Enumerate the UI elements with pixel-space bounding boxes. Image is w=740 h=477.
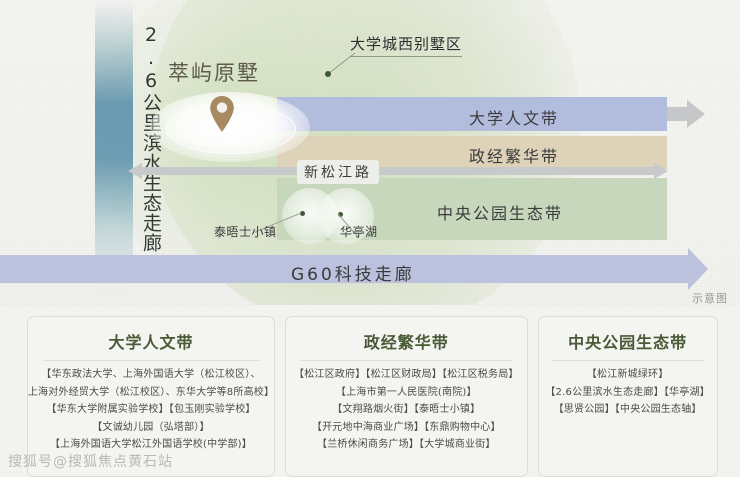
corridor-vertical-label: 2.6公里滨水生态走廊 xyxy=(133,24,161,284)
card-line: 【开元地中海商业广场】【东鼎购物中心】 xyxy=(312,421,501,435)
card-lines: 【松江新城绿环】 【2.6公里滨水生态走廊】【华亭湖】 【思贤公园】【中央公园生… xyxy=(547,368,709,417)
card-line: 【兰桥休闲商务广场】【大学城商业街】 xyxy=(317,438,496,452)
card-line: 【上海外国语大学松江外国语学校(中学部)】 xyxy=(50,438,252,452)
belt-university-humanities: 大学人文带 xyxy=(277,97,667,131)
poi-label-huating: 华亭湖 xyxy=(340,223,378,240)
card-line: 【文翔路烟火街】【泰晤士小镇】 xyxy=(332,403,480,417)
card-title: 政经繁华带 xyxy=(364,329,449,353)
card-title: 中央公园生态带 xyxy=(568,329,687,353)
belt-university-arrow-icon xyxy=(667,94,707,134)
road-arrow-icon xyxy=(128,163,668,179)
card-line: 【松江区政府】【松江区财政局】【松江区税务局】 xyxy=(294,368,519,382)
card-line: 【松江新城绿环】 xyxy=(587,368,669,382)
g60-arrow-icon xyxy=(668,248,710,290)
card-lines: 【松江区政府】【松江区财政局】【松江区税务局】 【上海市第一人民医院(南院)】 … xyxy=(294,368,519,452)
belt-university-humanities-label: 大学人文带 xyxy=(469,105,559,129)
card-central-park-ecology: 中央公园生态带 【松江新城绿环】 【2.6公里滨水生态走廊】【华亭湖】 【思贤公… xyxy=(538,316,718,477)
card-lines: 【华东政法大学、上海外国语大学（松江校区）、 上海对外经贸大学（松江校区）、东华… xyxy=(36,368,266,452)
g60-corridor-label: G60科技走廊 xyxy=(291,260,415,285)
card-line: 【文诚幼儿园（弘塔部）】 xyxy=(92,421,209,435)
poi-label-thames: 泰晤士小镇 xyxy=(214,223,277,240)
schematic-note: 示意图 xyxy=(692,290,728,305)
callout-villa-district-label: 大学城西别墅区 xyxy=(350,33,462,57)
card-political-economic: 政经繁华带 【松江区政府】【松江区财政局】【松江区税务局】 【上海市第一人民医院… xyxy=(285,316,528,477)
card-line: 【华东政法大学、上海外国语大学（松江校区）、 xyxy=(41,368,260,382)
callout-anchor-dot xyxy=(325,71,331,77)
watermark: 搜狐号@搜狐焦点黄石站 xyxy=(8,451,173,471)
card-divider xyxy=(551,360,703,361)
card-line: 【思贤公园】【中央公园生态轴】 xyxy=(554,403,702,417)
card-divider xyxy=(301,360,512,361)
belt-central-park-ecology-label: 中央公园生态带 xyxy=(437,200,563,224)
road-label: 新松江路 xyxy=(297,160,379,184)
schematic-map: 2.6公里滨水生态走廊 大学人文带 政经繁华带 中央公园生态带 新松江路 萃屿原… xyxy=(0,0,740,305)
card-line: 【上海市第一人民医院(南院)】 xyxy=(336,386,477,400)
card-title: 大学人文带 xyxy=(108,329,193,353)
card-line: 【2.6公里滨水生态走廊】【华亭湖】 xyxy=(545,386,710,400)
card-divider xyxy=(43,360,259,361)
callout-connector-line xyxy=(327,52,357,76)
project-name-label: 萃屿原墅 xyxy=(168,57,260,87)
card-line: 【华东大学附属实验学校】【包玉刚实验学校】 xyxy=(46,403,255,417)
map-pin-icon xyxy=(208,95,236,133)
card-line: 上海对外经贸大学（松江校区）、东华大学等8所高校】 xyxy=(28,386,274,400)
